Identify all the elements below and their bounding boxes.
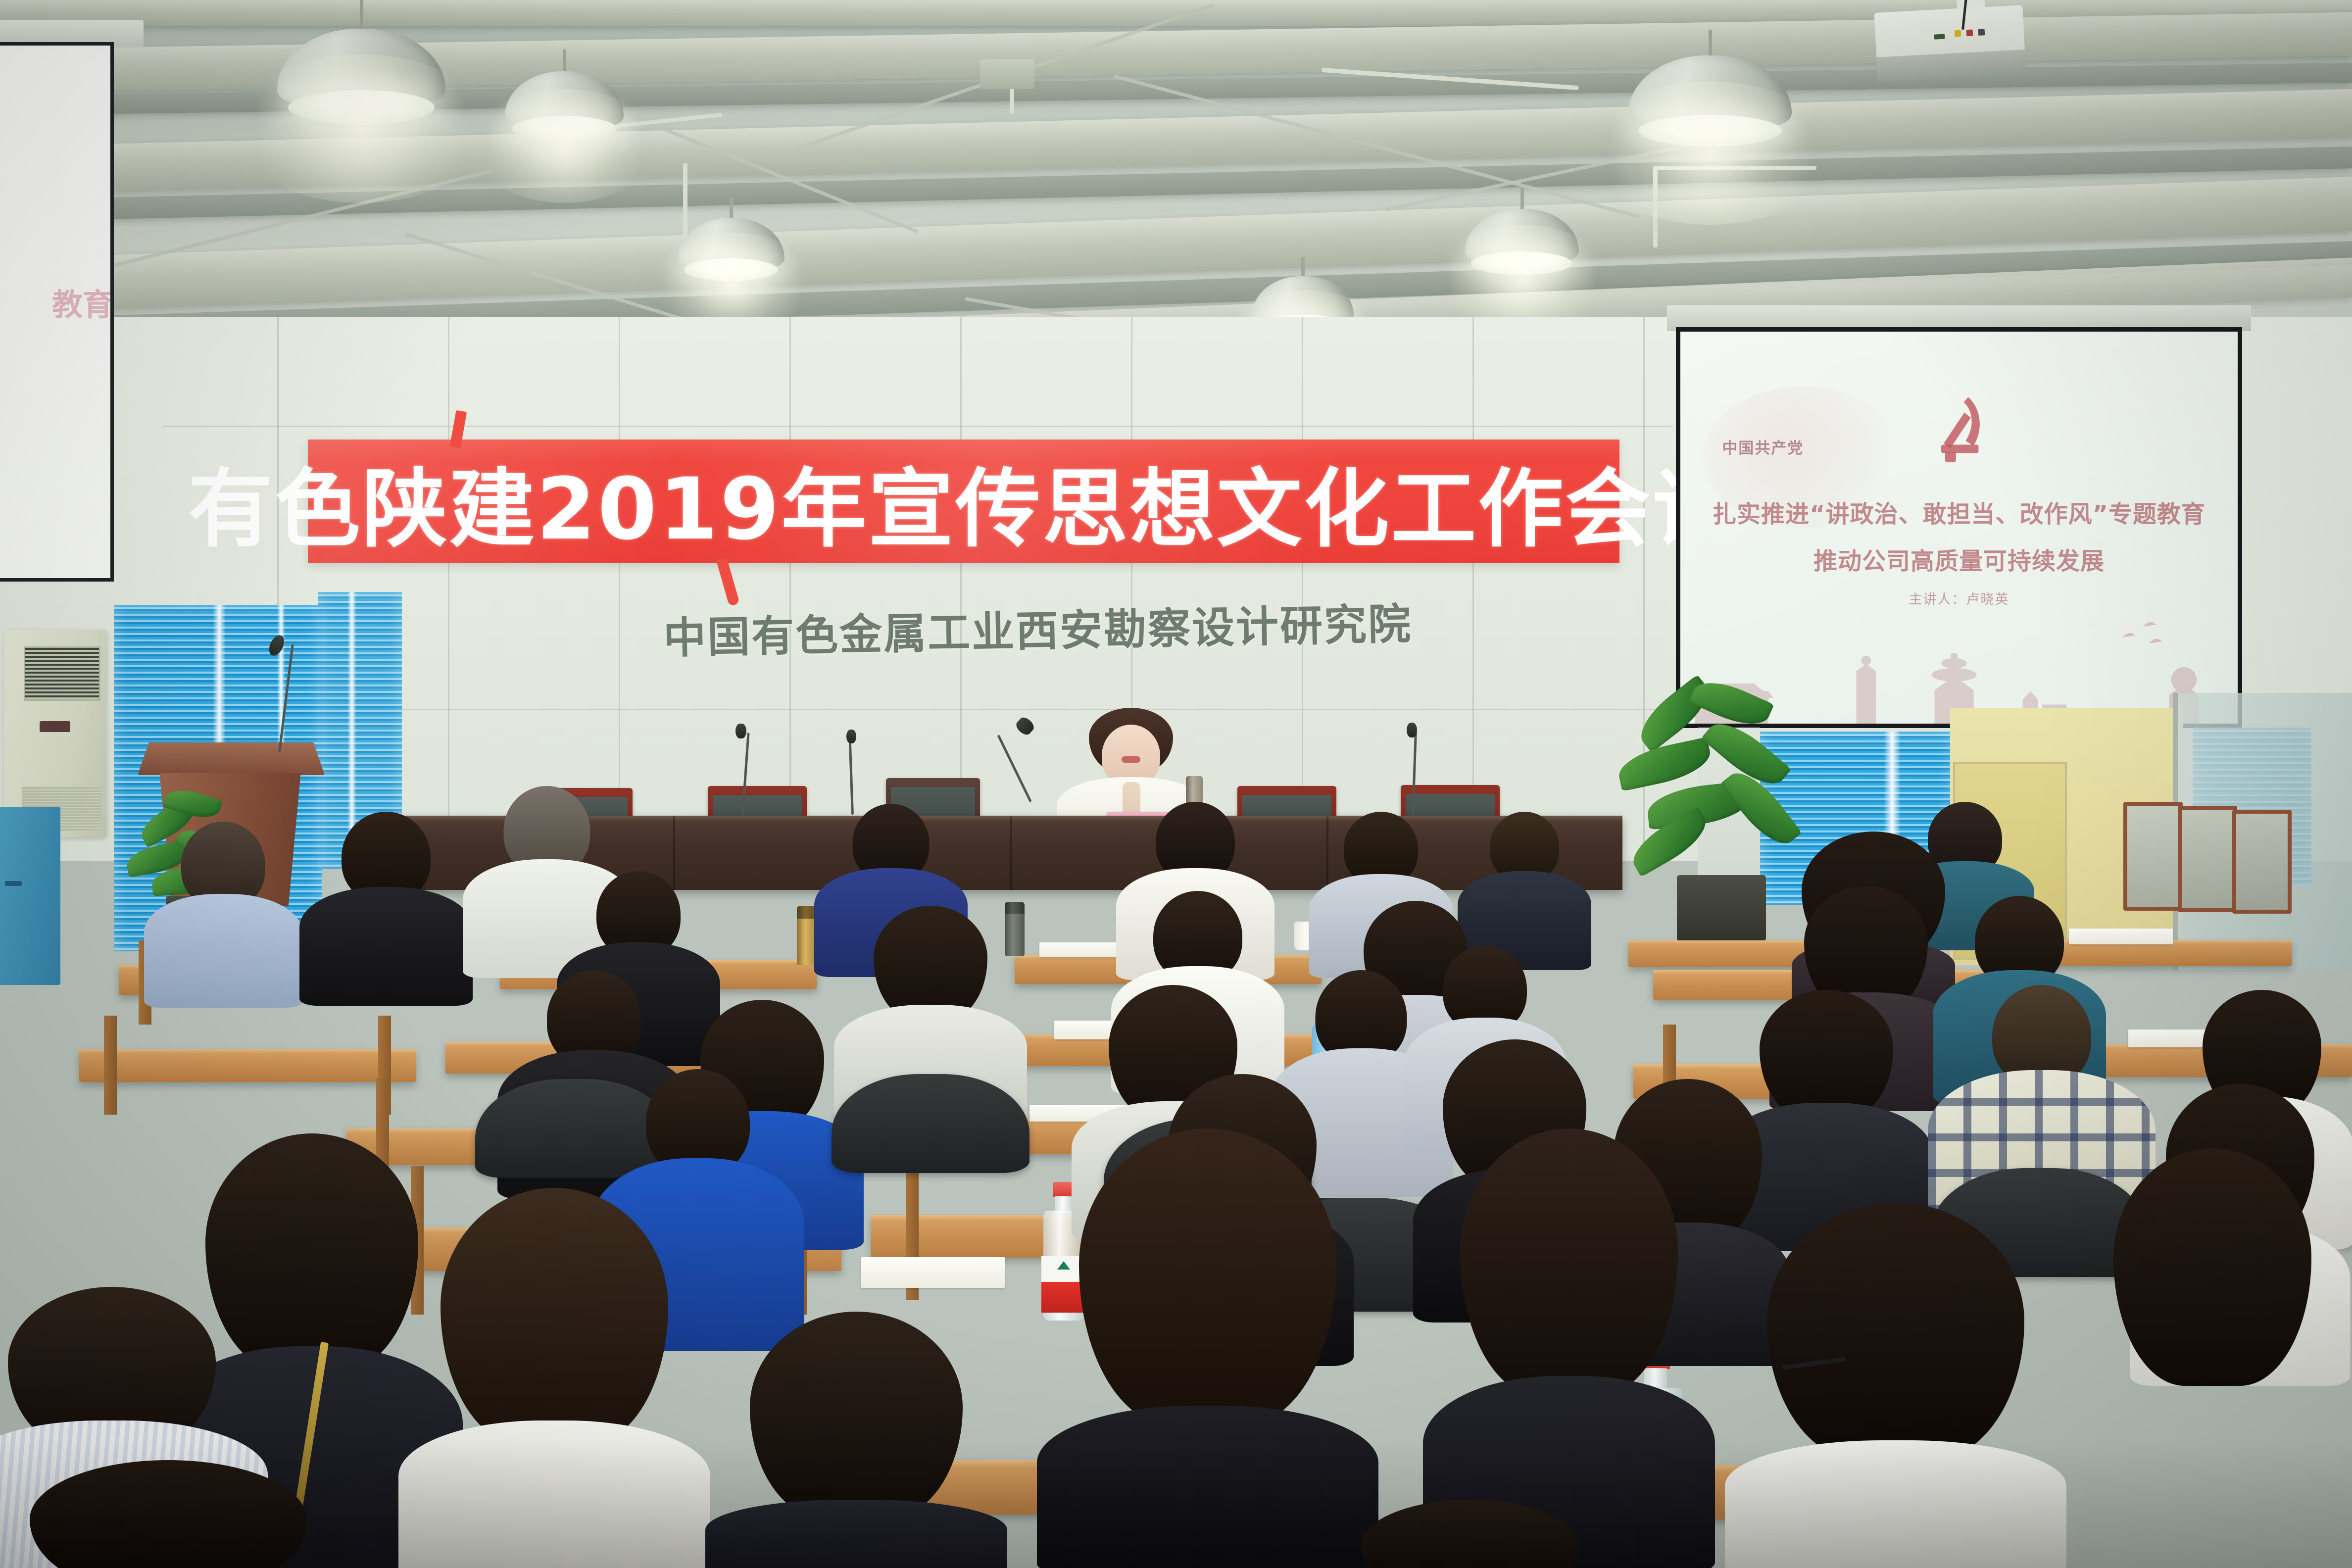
projection-screen-left: 教育 bbox=[0, 42, 114, 582]
hair bbox=[441, 1188, 668, 1445]
torso bbox=[2071, 1361, 2352, 1568]
hair bbox=[1767, 1203, 2024, 1460]
presentation-slide: 中国共产党 扎实推进“讲政治、敢担当、改作风”专题教育 推动公司高质量可持续发展… bbox=[1680, 332, 2238, 724]
empty-chair[interactable] bbox=[2123, 802, 2183, 911]
slide-fragment-left: 教育 bbox=[52, 280, 110, 324]
attendee bbox=[1034, 1128, 1381, 1568]
slide-presenter: 主讲人：卢晓英 bbox=[1680, 588, 2238, 608]
microphone-icon bbox=[846, 730, 856, 743]
hair bbox=[1361, 1500, 1579, 1568]
microphone-icon bbox=[735, 724, 746, 738]
torso bbox=[705, 1500, 1007, 1568]
screen-frame: 中国共产党 扎实推进“讲政治、敢担当、改作风”专题教育 推动公司高质量可持续发展… bbox=[1676, 327, 2242, 728]
projection-surface-left: 教育 bbox=[0, 46, 110, 578]
projection-screen-right: 中国共产党 扎实推进“讲政治、敢担当、改作风”专题教育 推动公司高质量可持续发展… bbox=[1667, 305, 2251, 731]
hair bbox=[1079, 1128, 1336, 1425]
torso bbox=[1037, 1406, 1378, 1568]
pendant-lamp bbox=[1628, 30, 1792, 144]
pendant-lamp bbox=[678, 198, 784, 287]
ac-grille bbox=[24, 646, 100, 701]
attendee bbox=[1346, 1500, 1594, 1568]
hammer-and-sickle-icon bbox=[1928, 391, 1993, 465]
lectern-top bbox=[138, 742, 325, 775]
attendee bbox=[297, 812, 475, 1000]
microphone-icon bbox=[1407, 723, 1417, 737]
paper bbox=[861, 1257, 1005, 1288]
party-label: 中国共产党 bbox=[1722, 436, 1804, 458]
attendee bbox=[10, 1460, 327, 1568]
hair bbox=[750, 1312, 963, 1519]
empty-chair[interactable] bbox=[2178, 806, 2237, 912]
cabinet-handle[interactable] bbox=[5, 881, 22, 886]
torso bbox=[1725, 1440, 2066, 1568]
conference-room-photo: 有色陕建2019年宣传思想文化工作会议 中国有色金属工业西安勘察设计研究院 中国… bbox=[0, 0, 2352, 1568]
attendee bbox=[2069, 1148, 2352, 1568]
hair bbox=[30, 1460, 307, 1568]
ceiling-projector bbox=[1874, 5, 2026, 82]
pendant-lamp bbox=[277, 0, 445, 124]
empty-chair[interactable] bbox=[2232, 810, 2292, 914]
attendee bbox=[1722, 1203, 2069, 1568]
chair[interactable] bbox=[832, 1074, 1029, 1173]
desk bbox=[79, 1049, 416, 1082]
ceiling-vent bbox=[980, 59, 1034, 89]
torso bbox=[299, 887, 473, 1006]
hair bbox=[1460, 1128, 1678, 1396]
pendant-lamp bbox=[505, 49, 624, 144]
banner-title: 有色陕建2019年宣传思想文化工作会议 bbox=[188, 440, 1740, 563]
air-conditioner bbox=[4, 630, 106, 837]
ac-display bbox=[40, 721, 70, 732]
hair bbox=[874, 906, 987, 1020]
attendee bbox=[142, 822, 305, 1000]
torso bbox=[398, 1421, 710, 1568]
mouth bbox=[1122, 756, 1140, 763]
slide-title-line2: 推动公司高质量可持续发展 bbox=[1680, 541, 2238, 576]
pendant-lamp bbox=[1465, 188, 1579, 282]
torso bbox=[144, 894, 302, 1008]
conference-banner: 有色陕建2019年宣传思想文化工作会议 bbox=[308, 440, 1619, 563]
hair bbox=[2113, 1148, 2311, 1386]
attendee bbox=[703, 1312, 1010, 1568]
slide-title-line1: 扎实推进“讲政治、敢担当、改作风”专题教育 bbox=[1680, 494, 2238, 529]
blue-cabinet bbox=[0, 807, 60, 985]
attendee bbox=[396, 1188, 713, 1568]
